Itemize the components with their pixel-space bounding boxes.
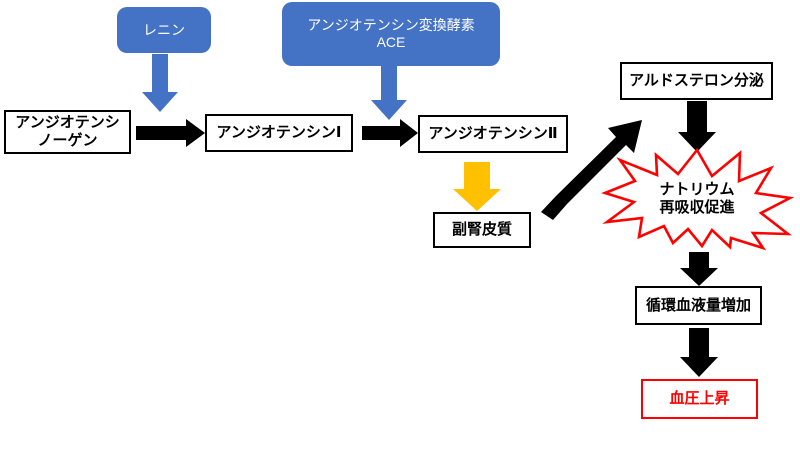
- node-ace-label: アンジオテンシン変換酵素 ACE: [307, 17, 474, 50]
- sodium-reabsorption-starburst: [605, 150, 790, 248]
- black-right-arrow-2: [362, 119, 418, 147]
- black-down-arrow-sodium: [680, 252, 718, 286]
- node-angiotensin-2[interactable]: アンジオテンシンⅡ: [418, 115, 568, 153]
- node-adrenal-cortex[interactable]: 副腎皮質: [433, 212, 531, 248]
- node-adrenal-cortex-label: 副腎皮質: [452, 221, 512, 239]
- node-aldosterone-secretion-label: アルドステロン分泌: [629, 72, 764, 90]
- node-blood-pressure-rise[interactable]: 血圧上昇: [641, 379, 758, 419]
- node-angiotensin-2-label: アンジオテンシンⅡ: [428, 125, 557, 143]
- black-right-arrow-1: [136, 119, 205, 147]
- node-aldosterone-secretion[interactable]: アルドステロン分泌: [620, 62, 773, 100]
- node-renin[interactable]: レニン: [117, 7, 211, 53]
- node-angiotensin-1[interactable]: アンジオテンシンⅠ: [205, 114, 353, 152]
- black-down-arrow-volume: [680, 328, 718, 377]
- node-angiotensinogen[interactable]: アンジオテンシ ノーゲン: [4, 110, 131, 154]
- node-blood-volume-increase[interactable]: 循環血液量増加: [635, 286, 762, 325]
- yellow-down-arrow: [453, 162, 501, 211]
- diagram-canvas: レニン アンジオテンシン変換酵素 ACE アンジオテンシ ノーゲン アンジオテン…: [0, 0, 800, 450]
- node-angiotensinogen-label: アンジオテンシ ノーゲン: [15, 114, 119, 149]
- node-angiotensin-1-label: アンジオテンシンⅠ: [217, 124, 342, 142]
- node-ace[interactable]: アンジオテンシン変換酵素 ACE: [282, 2, 500, 66]
- blue-down-arrow-renin: [142, 54, 178, 112]
- blue-down-arrow-ace: [371, 66, 407, 120]
- node-renin-label: レニン: [143, 22, 185, 39]
- node-blood-pressure-rise-label: 血圧上昇: [669, 390, 729, 408]
- node-blood-volume-increase-label: 循環血液量増加: [646, 297, 751, 315]
- black-down-arrow-aldosterone: [678, 101, 716, 152]
